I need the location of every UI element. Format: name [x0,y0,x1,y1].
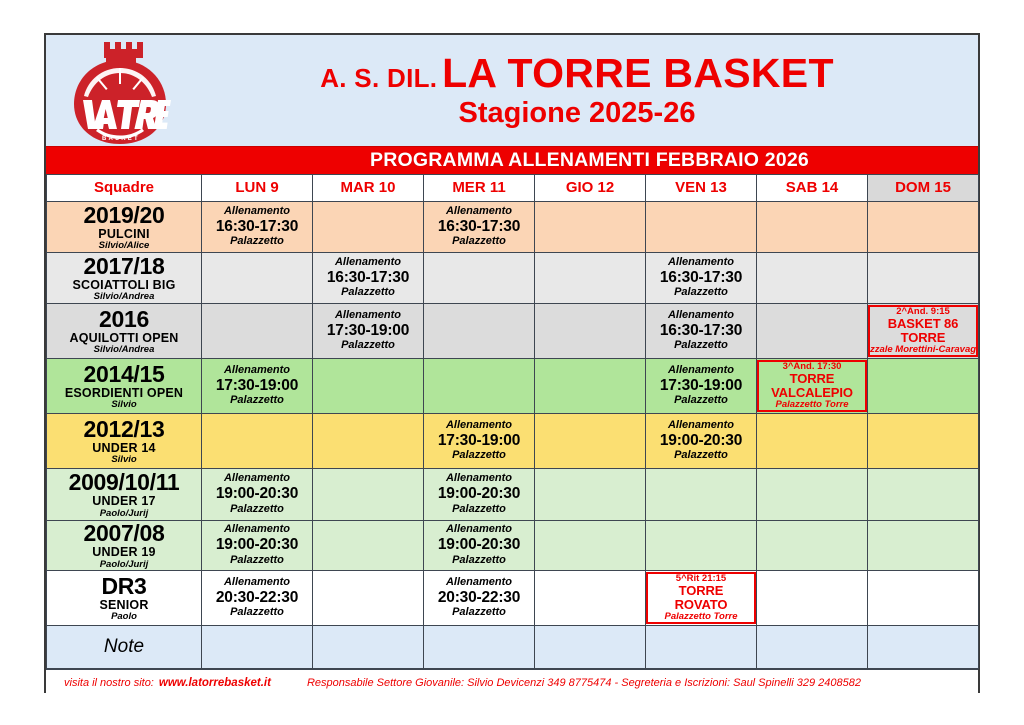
team-year: 2019/20 [47,204,201,227]
match-home-team: TORRE [790,372,835,386]
session-cell-lun[interactable]: Allenamento16:30-17:30Palazzetto [202,202,313,253]
note-row: Note [47,626,979,669]
program-banner-spacer [215,147,370,174]
session-venue: Palazzetto [424,555,534,567]
program-banner: PROGRAMMA ALLENAMENTI FEBBRAIO 2026 [46,146,978,174]
empty-cell-gio [535,304,646,359]
column-header-lun: LUN 9 [202,175,313,202]
session-kind: Allenamento [424,473,534,485]
column-header-label: LUN 9 [235,179,278,196]
svg-text:BASKET: BASKET [102,136,140,142]
column-header-gio: GIO 12 [535,175,646,202]
empty-cell-dom [868,521,979,571]
empty-cell-mar [313,521,424,571]
note-cell-ven[interactable] [646,626,757,669]
note-cell-mer[interactable] [424,626,535,669]
team-year: 2007/08 [47,522,201,545]
session-venue: Palazzetto [424,236,534,248]
session-kind: Allenamento [202,524,312,536]
empty-cell-mer [424,359,535,414]
empty-cell-dom [868,202,979,253]
empty-cell-sab [757,253,868,304]
training-session: Allenamento17:30-19:00Palazzetto [202,365,312,407]
empty-cell-mar [313,414,424,469]
session-kind: Allenamento [424,577,534,589]
team-year: 2016 [47,308,201,331]
session-kind: Allenamento [646,420,756,432]
session-kind: Allenamento [424,420,534,432]
session-time: 17:30-19:00 [646,378,756,395]
session-time: 16:30-17:30 [646,323,756,340]
match-venue: Palazzetto Torre [664,612,737,622]
session-cell-mer[interactable]: Allenamento20:30-22:30Palazzetto [424,571,535,626]
session-cell-lun[interactable]: Allenamento17:30-19:00Palazzetto [202,359,313,414]
footer-visit-label: visita il nostro sito: [64,677,154,689]
table-header-row: SquadreLUN 9MAR 10MER 11GIO 12VEN 13SAB … [47,175,979,202]
empty-cell-gio [535,359,646,414]
session-venue: Palazzetto [202,236,312,248]
session-kind: Allenamento [313,257,423,269]
column-header-label: VEN 13 [675,179,727,196]
team-category: PULCINI [47,228,201,241]
session-kind: Allenamento [202,473,312,485]
column-header-label: MAR 10 [340,179,395,196]
match-cell-sab[interactable]: 3^And. 17:30TORREVALCALEPIOPalazzetto To… [757,359,868,414]
team-cell: 2009/10/11UNDER 17Paolo/Jurij [47,469,202,521]
empty-cell-mer [424,253,535,304]
session-time: 19:00-20:30 [202,537,312,554]
team-category: ESORDIENTI OPEN [47,387,201,400]
session-venue: Palazzetto [424,607,534,619]
empty-cell-lun [202,414,313,469]
match-cell-dom[interactable]: 2^And. 9:15BASKET 86TORREPiazzale Morett… [868,304,979,359]
column-header-label: MER 11 [452,179,505,196]
note-cell-mar[interactable] [313,626,424,669]
team-coach: Paolo/Jurij [47,560,201,570]
table-row: 2014/15ESORDIENTI OPENSilvioAllenamento1… [47,359,979,414]
team-cell: 2007/08UNDER 19Paolo/Jurij [47,521,202,571]
empty-cell-gio [535,469,646,521]
session-cell-mer[interactable]: Allenamento19:00-20:30Palazzetto [424,469,535,521]
session-cell-lun[interactable]: Allenamento19:00-20:30Palazzetto [202,469,313,521]
season-label: Stagione 2025-26 [459,99,696,128]
session-time: 16:30-17:30 [202,219,312,236]
schedule-sheet: BASKET A. S. DIL. LA TORRE BASKET Stagio… [44,33,980,693]
table-body: 2019/20PULCINISilvio/AliceAllenamento16:… [47,202,979,669]
session-kind: Allenamento [202,206,312,218]
training-session: Allenamento17:30-19:00Palazzetto [313,310,423,352]
training-session: Allenamento19:00-20:30Palazzetto [424,524,534,566]
session-time: 16:30-17:30 [424,219,534,236]
empty-cell-sab [757,521,868,571]
note-label: Note [47,626,202,669]
empty-cell-mar [313,469,424,521]
note-cell-dom[interactable] [868,626,979,669]
team-category: UNDER 19 [47,546,201,559]
schedule-table: SquadreLUN 9MAR 10MER 11GIO 12VEN 13SAB … [46,174,979,669]
team-coach: Silvio/Andrea [47,292,201,302]
team-coach: Silvio/Andrea [47,345,201,355]
team-coach: Silvio [47,400,201,410]
team-category: UNDER 14 [47,442,201,455]
footer-bar: visita il nostro sito: www.latorrebasket… [46,669,978,696]
footer-contacts: Responsabile Settore Giovanile: Silvio D… [307,677,861,689]
team-cell: 2019/20PULCINISilvio/Alice [47,202,202,253]
footer-website-link[interactable]: www.latorrebasket.it [159,677,271,689]
empty-cell-ven [646,469,757,521]
session-cell-lun[interactable]: Allenamento19:00-20:30Palazzetto [202,521,313,571]
empty-cell-sab [757,571,868,626]
team-cell: 2017/18SCOIATTOLI BIGSilvio/Andrea [47,253,202,304]
club-title-prefix: A. S. DIL. [320,63,437,93]
empty-cell-ven [646,521,757,571]
match-away-team: VALCALEPIO [771,386,853,400]
session-time: 16:30-17:30 [646,270,756,287]
session-time: 19:00-20:30 [202,486,312,503]
column-header-dom: DOM 15 [868,175,979,202]
empty-cell-sab [757,469,868,521]
session-time: 20:30-22:30 [424,590,534,607]
empty-cell-gio [535,571,646,626]
training-session: Allenamento16:30-17:30Palazzetto [646,257,756,299]
session-venue: Palazzetto [202,395,312,407]
table-row: 2019/20PULCINISilvio/AliceAllenamento16:… [47,202,979,253]
empty-cell-gio [535,414,646,469]
team-year: DR3 [47,575,201,598]
session-kind: Allenamento [646,365,756,377]
note-label-text: Note [104,636,144,657]
table-row: 2016AQUILOTTI OPENSilvio/AndreaAllenamen… [47,304,979,359]
title-block: A. S. DIL. LA TORRE BASKET Stagione 2025… [176,35,978,146]
session-time: 17:30-19:00 [202,378,312,395]
team-cell: 2016AQUILOTTI OPENSilvio/Andrea [47,304,202,359]
session-venue: Palazzetto [202,607,312,619]
session-venue: Palazzetto [646,340,756,352]
column-header-sab: SAB 14 [757,175,868,202]
session-time: 17:30-19:00 [313,323,423,340]
session-cell-mer[interactable]: Allenamento17:30-19:00Palazzetto [424,414,535,469]
training-session: Allenamento19:00-20:30Palazzetto [424,473,534,515]
session-cell-ven[interactable]: Allenamento17:30-19:00Palazzetto [646,359,757,414]
training-session: Allenamento17:30-19:00Palazzetto [646,365,756,407]
schedule-page: BASKET A. S. DIL. LA TORRE BASKET Stagio… [0,0,1024,725]
team-category: SENIOR [47,599,201,612]
empty-cell-gio [535,521,646,571]
training-session: Allenamento16:30-17:30Palazzetto [202,206,312,248]
session-cell-ven[interactable]: Allenamento16:30-17:30Palazzetto [646,253,757,304]
training-session: Allenamento16:30-17:30Palazzetto [313,257,423,299]
training-session: Allenamento16:30-17:30Palazzetto [646,310,756,352]
session-cell-mar[interactable]: Allenamento16:30-17:30Palazzetto [313,253,424,304]
match-home-team: TORRE [679,584,724,598]
session-cell-mar[interactable]: Allenamento17:30-19:00Palazzetto [313,304,424,359]
session-cell-ven[interactable]: Allenamento19:00-20:30Palazzetto [646,414,757,469]
session-cell-mer[interactable]: Allenamento16:30-17:30Palazzetto [424,202,535,253]
column-header-mer: MER 11 [424,175,535,202]
match-home-team: BASKET 86 [888,317,959,331]
team-cell: 2014/15ESORDIENTI OPENSilvio [47,359,202,414]
empty-cell-dom [868,571,979,626]
column-header-team: Squadre [47,175,202,202]
table-row: 2012/13UNDER 14SilvioAllenamento17:30-19… [47,414,979,469]
session-kind: Allenamento [646,257,756,269]
team-category: AQUILOTTI OPEN [47,332,201,345]
column-header-mar: MAR 10 [313,175,424,202]
training-session: Allenamento20:30-22:30Palazzetto [202,577,312,619]
club-title-main: LA TORRE BASKET [442,50,834,96]
table-row: 2009/10/11UNDER 17Paolo/JurijAllenamento… [47,469,979,521]
session-kind: Allenamento [202,365,312,377]
session-time: 17:30-19:00 [424,433,534,450]
session-venue: Palazzetto [646,450,756,462]
column-header-label: SAB 14 [786,179,839,196]
empty-cell-gio [535,253,646,304]
training-session: Allenamento19:00-20:30Palazzetto [202,524,312,566]
team-category: UNDER 17 [47,495,201,508]
session-venue: Palazzetto [202,555,312,567]
empty-cell-sab [757,202,868,253]
session-venue: Palazzetto [646,395,756,407]
session-cell-lun[interactable]: Allenamento20:30-22:30Palazzetto [202,571,313,626]
team-coach: Silvio [47,455,201,465]
session-kind: Allenamento [424,524,534,536]
session-time: 19:00-20:30 [424,537,534,554]
empty-cell-dom [868,359,979,414]
match-cell-ven[interactable]: 5^Rit 21:15TORREROVATOPalazzetto Torre [646,571,757,626]
column-header-ven: VEN 13 [646,175,757,202]
header-banner: BASKET A. S. DIL. LA TORRE BASKET Stagio… [46,35,978,146]
empty-cell-mar [313,202,424,253]
column-header-label: DOM 15 [895,179,951,196]
team-year: 2014/15 [47,363,201,386]
empty-cell-mer [424,304,535,359]
match-away-team: TORRE [901,331,946,345]
empty-cell-sab [757,414,868,469]
table-row: 2007/08UNDER 19Paolo/JurijAllenamento19:… [47,521,979,571]
training-session: Allenamento16:30-17:30Palazzetto [424,206,534,248]
empty-cell-gio [535,202,646,253]
training-session: Allenamento19:00-20:30Palazzetto [202,473,312,515]
session-kind: Allenamento [646,310,756,322]
team-cell: DR3SENIORPaolo [47,571,202,626]
training-session: Allenamento19:00-20:30Palazzetto [646,420,756,462]
session-kind: Allenamento [424,206,534,218]
team-year: 2009/10/11 [47,471,201,494]
empty-cell-mar [313,571,424,626]
match-box: 3^And. 17:30TORREVALCALEPIOPalazzetto To… [757,360,867,411]
team-cell: 2012/13UNDER 14Silvio [47,414,202,469]
empty-cell-dom [868,253,979,304]
club-title: A. S. DIL. LA TORRE BASKET [320,53,834,94]
match-venue: Palazzetto Torre [775,400,848,410]
team-year: 2012/13 [47,418,201,441]
session-venue: Palazzetto [646,287,756,299]
empty-cell-sab [757,304,868,359]
team-year: 2017/18 [47,255,201,278]
column-header-label: Squadre [94,179,154,196]
empty-cell-dom [868,414,979,469]
empty-cell-mar [313,359,424,414]
session-time: 20:30-22:30 [202,590,312,607]
team-coach: Silvio/Alice [47,241,201,251]
session-venue: Palazzetto [424,504,534,516]
la-torre-basket-logo: BASKET [66,38,174,148]
session-venue: Palazzetto [424,450,534,462]
empty-cell-lun [202,253,313,304]
note-cell-sab[interactable] [757,626,868,669]
column-header-label: GIO 12 [566,179,614,196]
empty-cell-lun [202,304,313,359]
team-category: SCOIATTOLI BIG [47,279,201,292]
match-box: 2^And. 9:15BASKET 86TORREPiazzale Morett… [868,305,978,356]
table-row: DR3SENIORPaoloAllenamento20:30-22:30Pala… [47,571,979,626]
team-coach: Paolo/Jurij [47,509,201,519]
team-coach: Paolo [47,612,201,622]
training-session: Allenamento20:30-22:30Palazzetto [424,577,534,619]
note-cell-lun[interactable] [202,626,313,669]
session-cell-ven[interactable]: Allenamento16:30-17:30Palazzetto [646,304,757,359]
session-cell-mer[interactable]: Allenamento19:00-20:30Palazzetto [424,521,535,571]
match-away-team: ROVATO [675,598,728,612]
session-time: 19:00-20:30 [424,486,534,503]
table-row: 2017/18SCOIATTOLI BIGSilvio/AndreaAllena… [47,253,979,304]
session-venue: Palazzetto [313,340,423,352]
empty-cell-ven [646,202,757,253]
note-cell-gio[interactable] [535,626,646,669]
session-kind: Allenamento [313,310,423,322]
session-time: 16:30-17:30 [313,270,423,287]
match-venue: Piazzale Morettini-Caravaggio [868,345,979,355]
program-title: PROGRAMMA ALLENAMENTI FEBBRAIO 2026 [370,149,809,172]
session-venue: Palazzetto [313,287,423,299]
training-session: Allenamento17:30-19:00Palazzetto [424,420,534,462]
session-kind: Allenamento [202,577,312,589]
match-box: 5^Rit 21:15TORREROVATOPalazzetto Torre [646,572,756,623]
empty-cell-dom [868,469,979,521]
session-time: 19:00-20:30 [646,433,756,450]
session-venue: Palazzetto [202,504,312,516]
